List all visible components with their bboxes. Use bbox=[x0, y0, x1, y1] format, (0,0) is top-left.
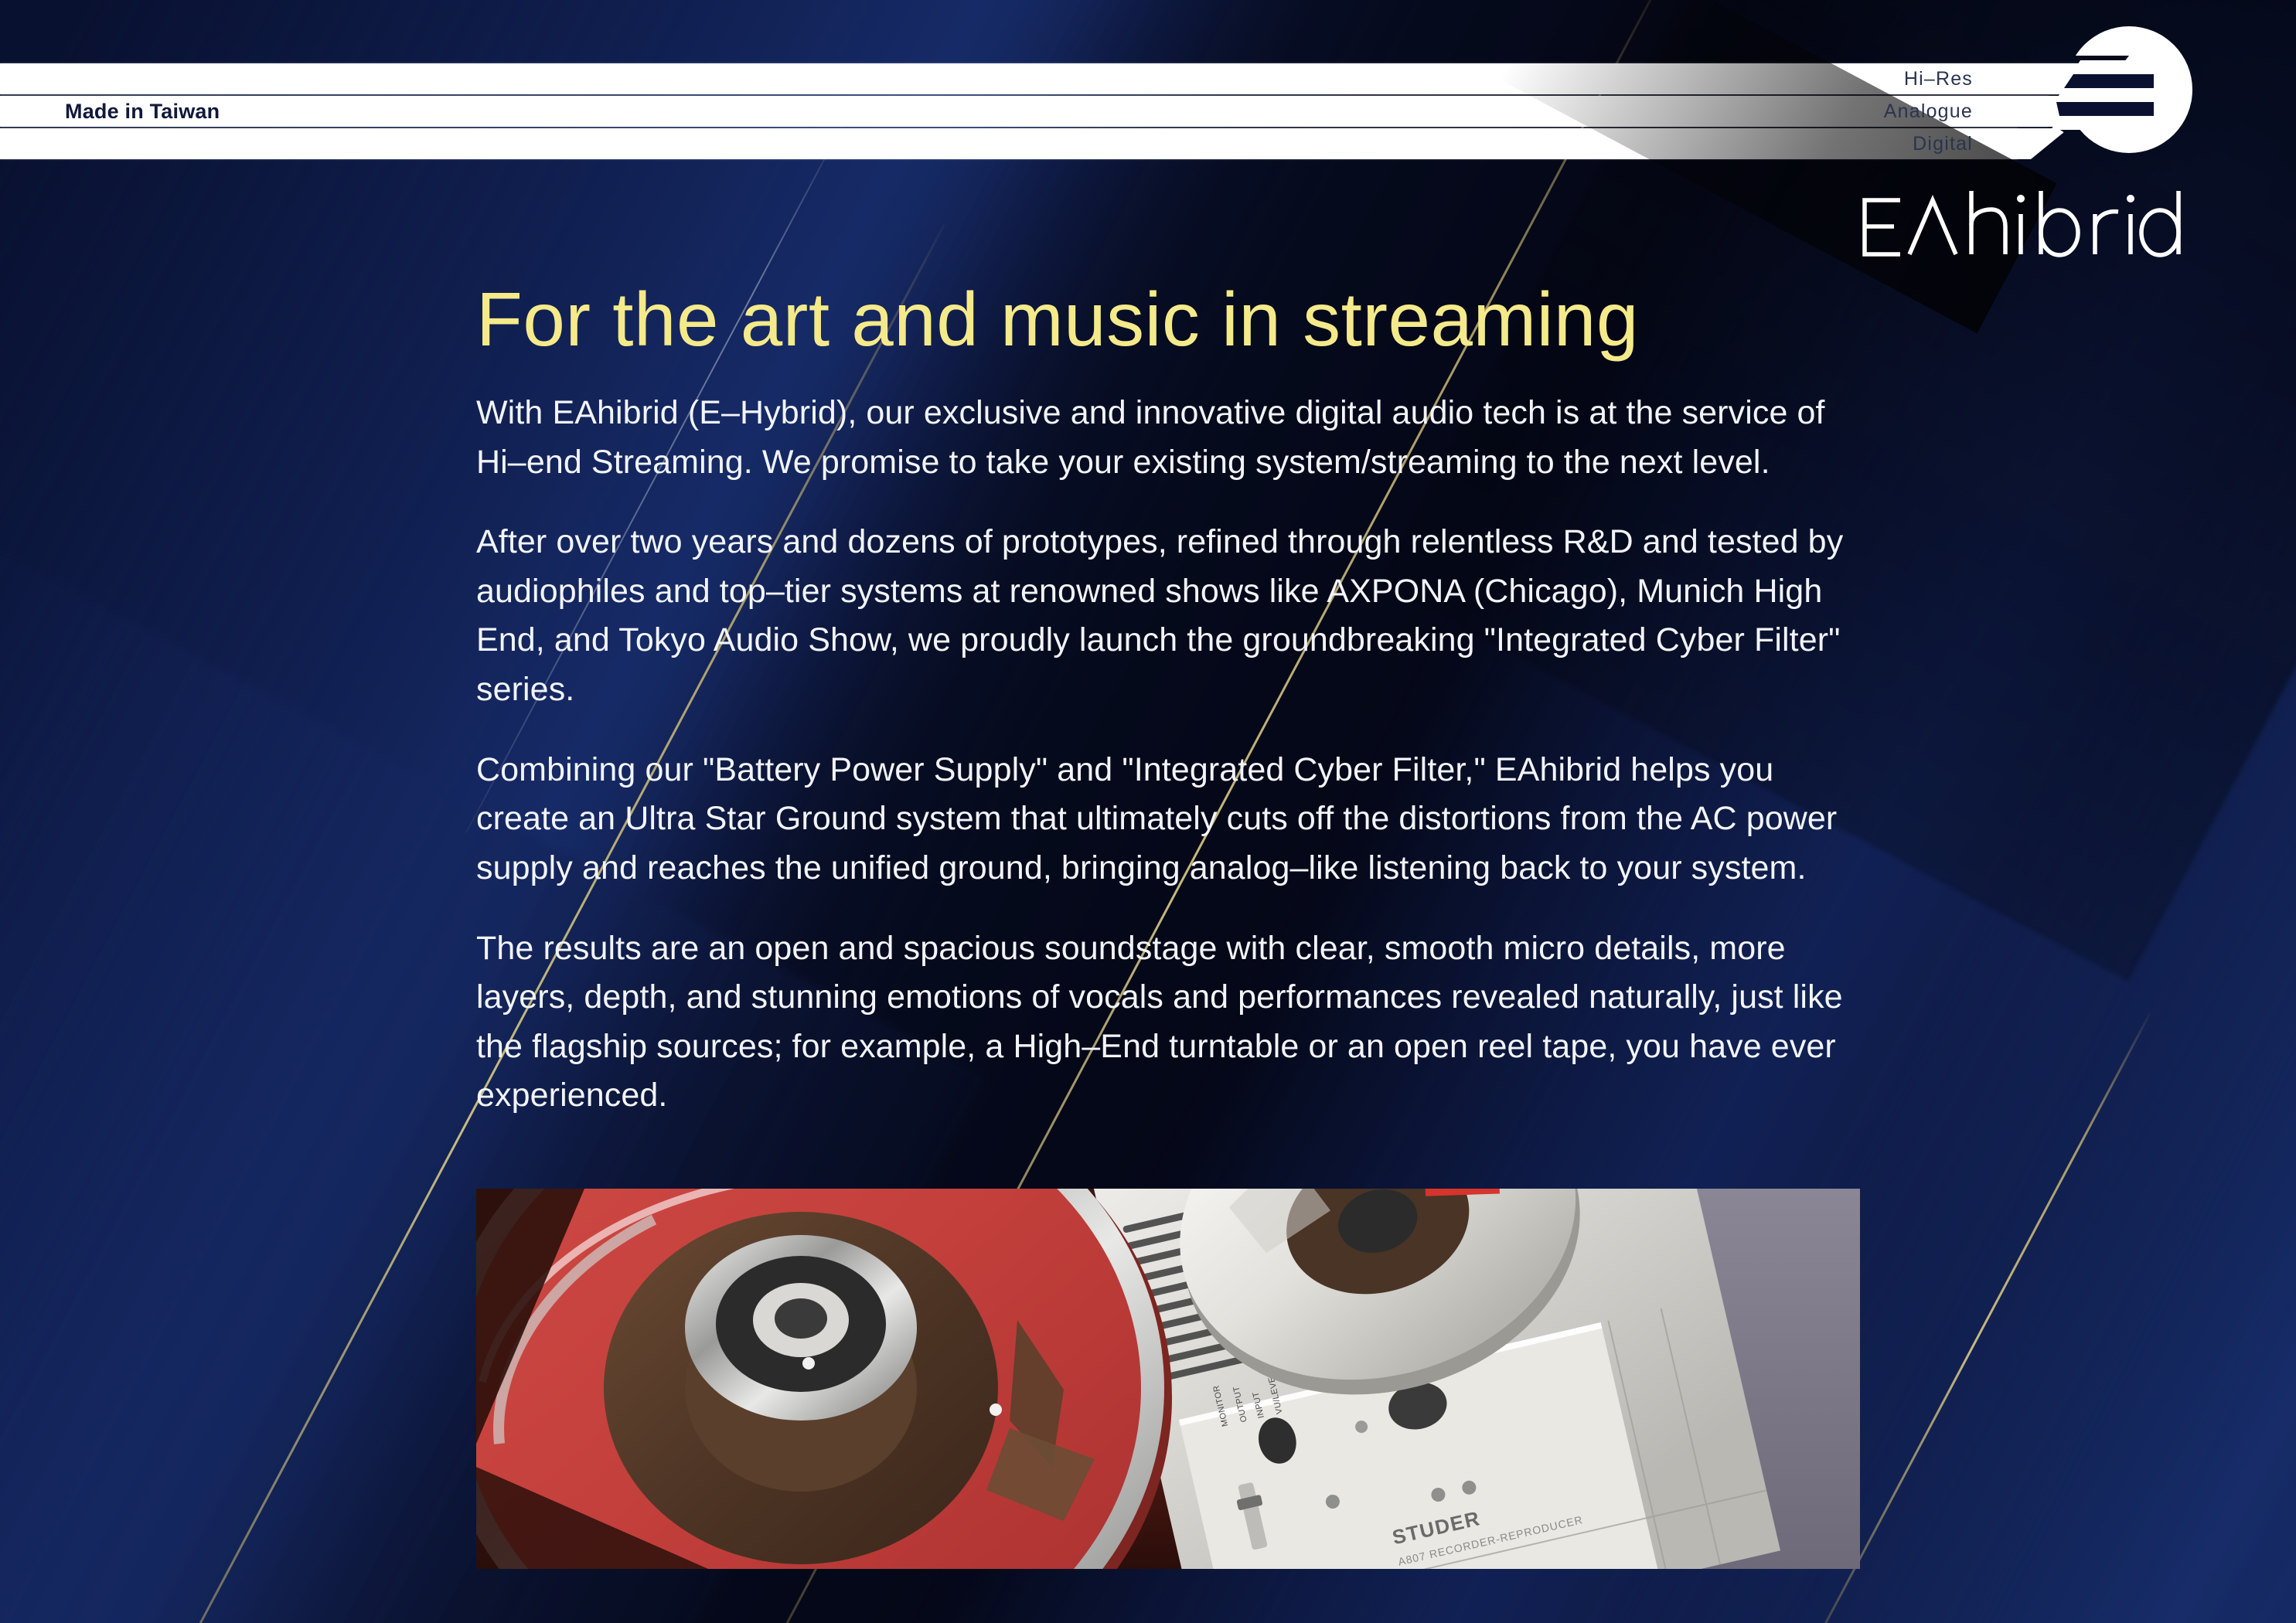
label-hi-res: Hi–Res bbox=[1741, 68, 1973, 90]
label-analogue: Analogue bbox=[1741, 100, 1973, 123]
header-format-labels: Hi–Res Analogue Digital bbox=[1755, 0, 2296, 178]
body-paragraph-1: With EAhibrid (E–Hybrid), our exclusive … bbox=[476, 389, 1860, 487]
header-stripe-3 bbox=[0, 128, 2018, 159]
speed-streak-circle-logo-icon bbox=[2038, 14, 2192, 165]
reel-to-reel-tape-recorder-photo: MONITOR OUTPUT INPUT VU/LEVEL STUDER A80… bbox=[476, 1189, 1860, 1569]
content-column: For the art and music in streaming With … bbox=[476, 280, 1860, 1147]
page-title: For the art and music in streaming bbox=[476, 280, 1860, 359]
body-paragraph-4: The results are an open and spacious sou… bbox=[476, 924, 1860, 1121]
body-paragraph-3: Combining our "Battery Power Supply" and… bbox=[476, 746, 1860, 893]
body-paragraph-2: After over two years and dozens of proto… bbox=[476, 518, 1860, 715]
eahibrid-wordmark bbox=[1848, 176, 2196, 277]
label-digital: Digital bbox=[1741, 133, 1973, 155]
slide-page: Made in Taiwan Hi–Res Analogue Digital bbox=[0, 0, 2296, 1623]
made-in-taiwan-label: Made in Taiwan bbox=[65, 97, 220, 125]
